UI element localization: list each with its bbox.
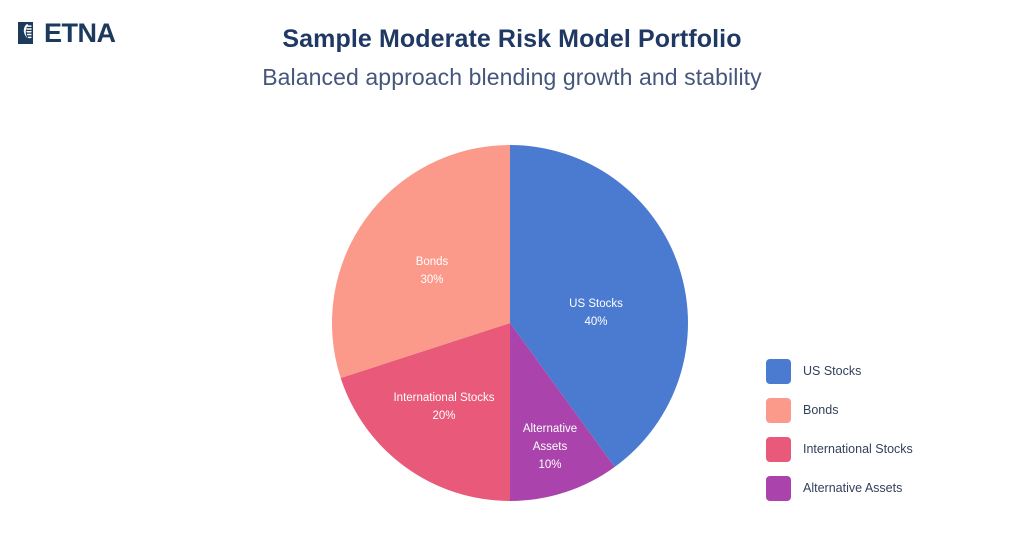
chart-header: Sample Moderate Risk Model Portfolio Bal… — [0, 24, 1024, 92]
page-subtitle: Balanced approach blending growth and st… — [0, 63, 1024, 92]
page-title: Sample Moderate Risk Model Portfolio — [0, 24, 1024, 55]
pie-label-us-stocks-name: US Stocks — [569, 298, 623, 310]
pie-label-bonds-name: Bonds — [416, 256, 449, 268]
pie-label-alternative-assets-name-line2: Assets — [533, 441, 568, 453]
legend-swatch-bonds — [766, 398, 791, 423]
pie-label-us-stocks-percent: 40% — [584, 316, 607, 328]
pie-label-international-stocks-percent: 20% — [432, 410, 455, 422]
pie-chart-svg: US Stocks 40% Bonds 30% International St… — [332, 145, 688, 501]
legend-item-us-stocks[interactable]: US Stocks — [766, 352, 1006, 391]
chart-legend: US Stocks Bonds International Stocks Alt… — [766, 352, 1006, 508]
legend-label-bonds: Bonds — [803, 404, 838, 417]
pie-label-bonds-percent: 30% — [420, 274, 443, 286]
legend-swatch-international-stocks — [766, 437, 791, 462]
legend-item-bonds[interactable]: Bonds — [766, 391, 1006, 430]
legend-label-alternative-assets: Alternative Assets — [803, 482, 902, 495]
legend-swatch-alternative-assets — [766, 476, 791, 501]
pie-label-alternative-assets-percent: 10% — [538, 459, 561, 471]
legend-swatch-us-stocks — [766, 359, 791, 384]
legend-item-alternative-assets[interactable]: Alternative Assets — [766, 469, 1006, 508]
pie-chart-infographic: ETNA Sample Moderate Risk Model Portfoli… — [0, 0, 1024, 538]
pie-label-international-stocks-name: International Stocks — [393, 392, 494, 404]
legend-item-international-stocks[interactable]: International Stocks — [766, 430, 1006, 469]
legend-label-international-stocks: International Stocks — [803, 443, 913, 456]
pie-chart: US Stocks 40% Bonds 30% International St… — [332, 145, 688, 501]
legend-label-us-stocks: US Stocks — [803, 365, 861, 378]
pie-label-alternative-assets-name-line1: Alternative — [523, 423, 577, 435]
